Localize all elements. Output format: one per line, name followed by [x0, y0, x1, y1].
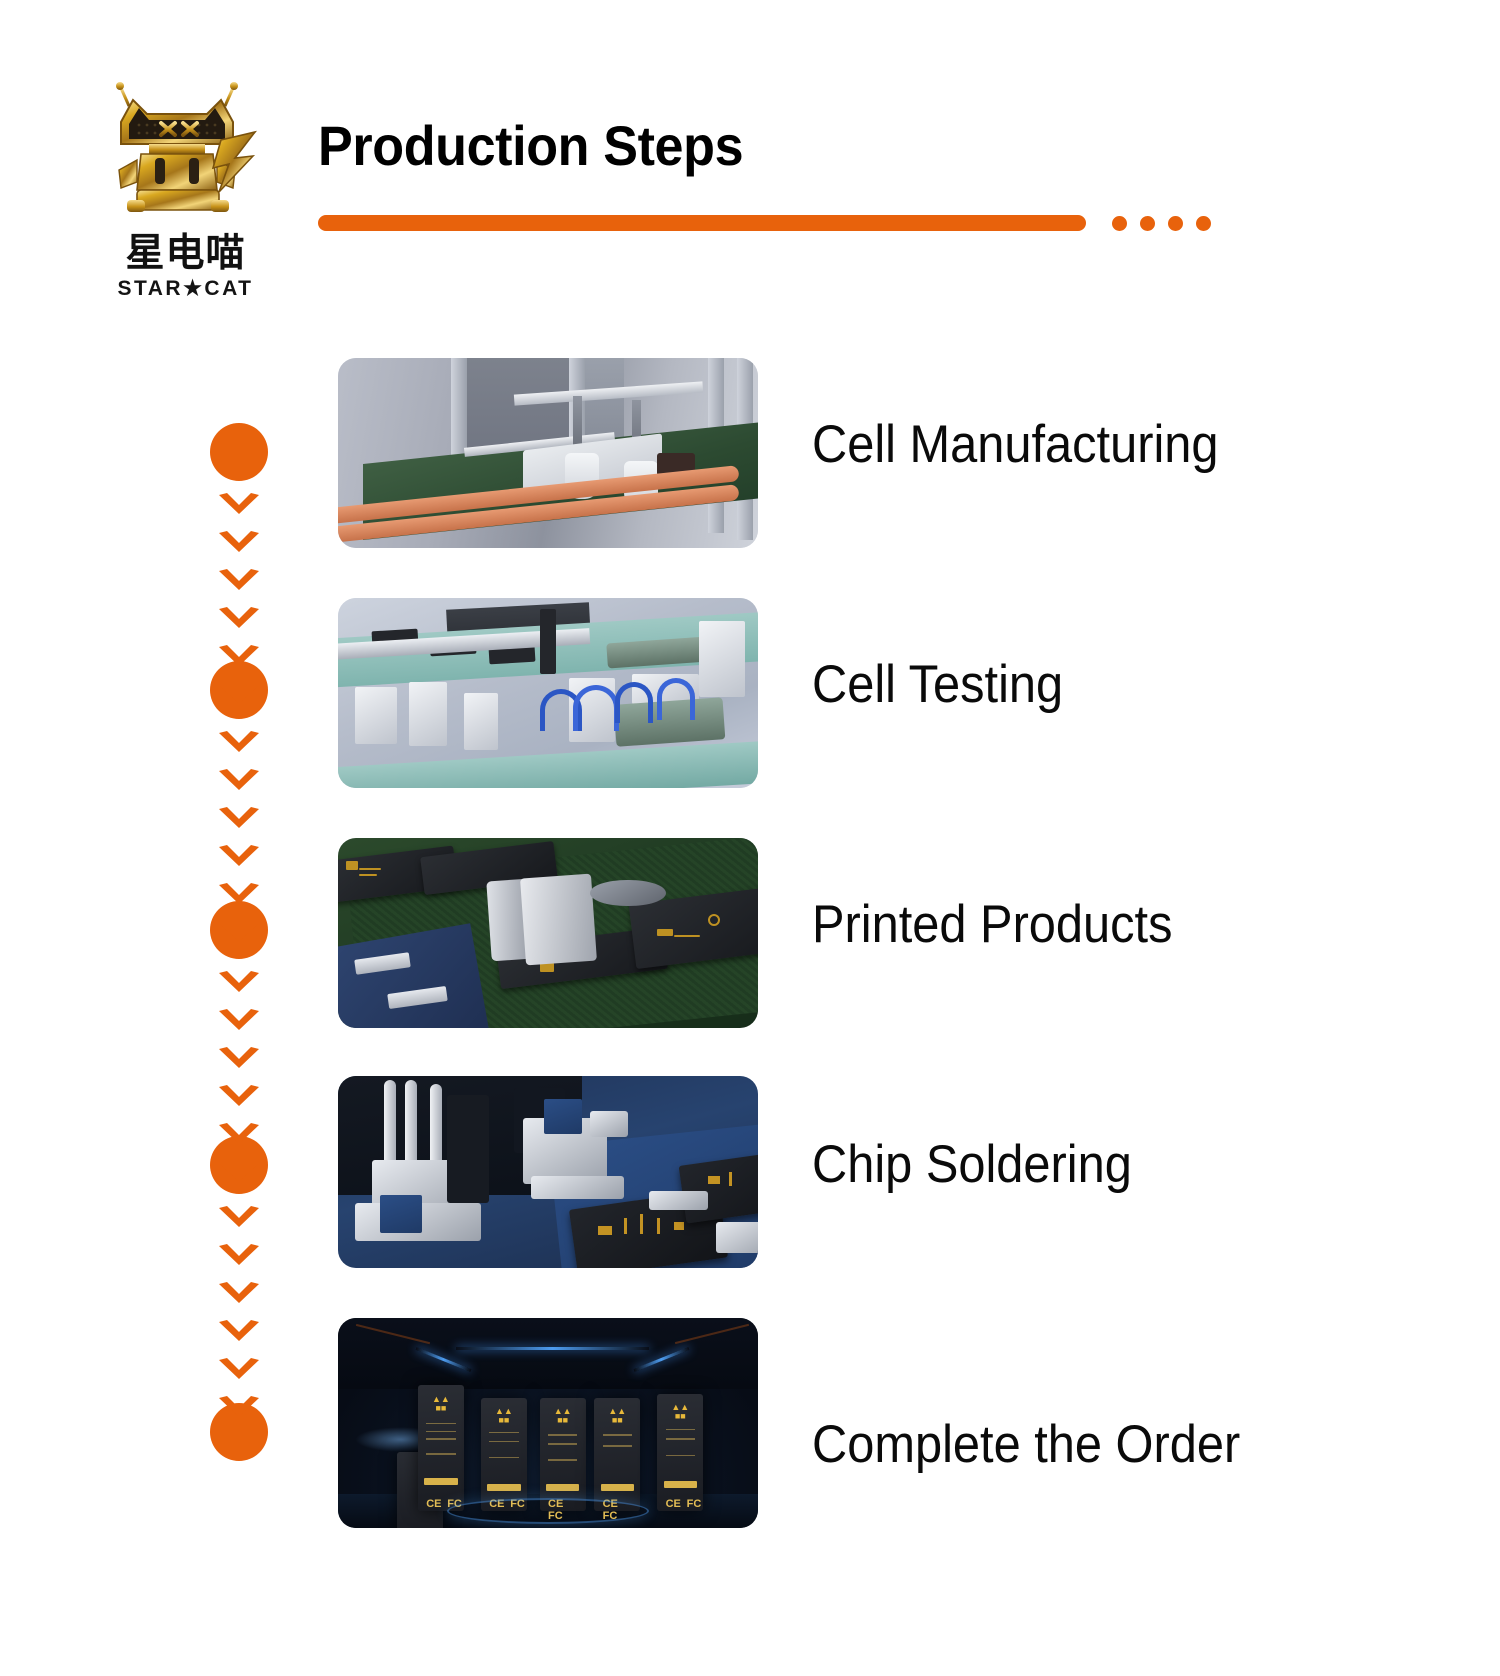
step-label: Cell Testing	[812, 658, 1063, 711]
step-label: Complete the Order	[812, 1418, 1240, 1471]
step-thumbnail[interactable]: ▲▲■■ ▲▲■■ ▲▲■	[338, 1318, 758, 1528]
cell-testing-illustration	[338, 598, 758, 788]
complete-order-illustration: ▲▲■■ ▲▲■■ ▲▲■	[338, 1318, 758, 1528]
steps-list: Cell Manufacturing	[0, 0, 1500, 1676]
step-thumbnail[interactable]	[338, 358, 758, 548]
step-label: Printed Products	[812, 898, 1172, 951]
step-label: Chip Soldering	[812, 1138, 1132, 1191]
step-thumbnail[interactable]	[338, 598, 758, 788]
step-thumbnail[interactable]	[338, 1076, 758, 1268]
cell-manufacturing-illustration	[338, 358, 758, 548]
printed-products-illustration	[338, 838, 758, 1028]
chip-soldering-illustration	[338, 1076, 758, 1268]
step-thumbnail[interactable]	[338, 838, 758, 1028]
production-steps-page: 星电喵 STAR★CAT Production Steps	[0, 0, 1500, 1676]
step-label: Cell Manufacturing	[812, 418, 1219, 471]
